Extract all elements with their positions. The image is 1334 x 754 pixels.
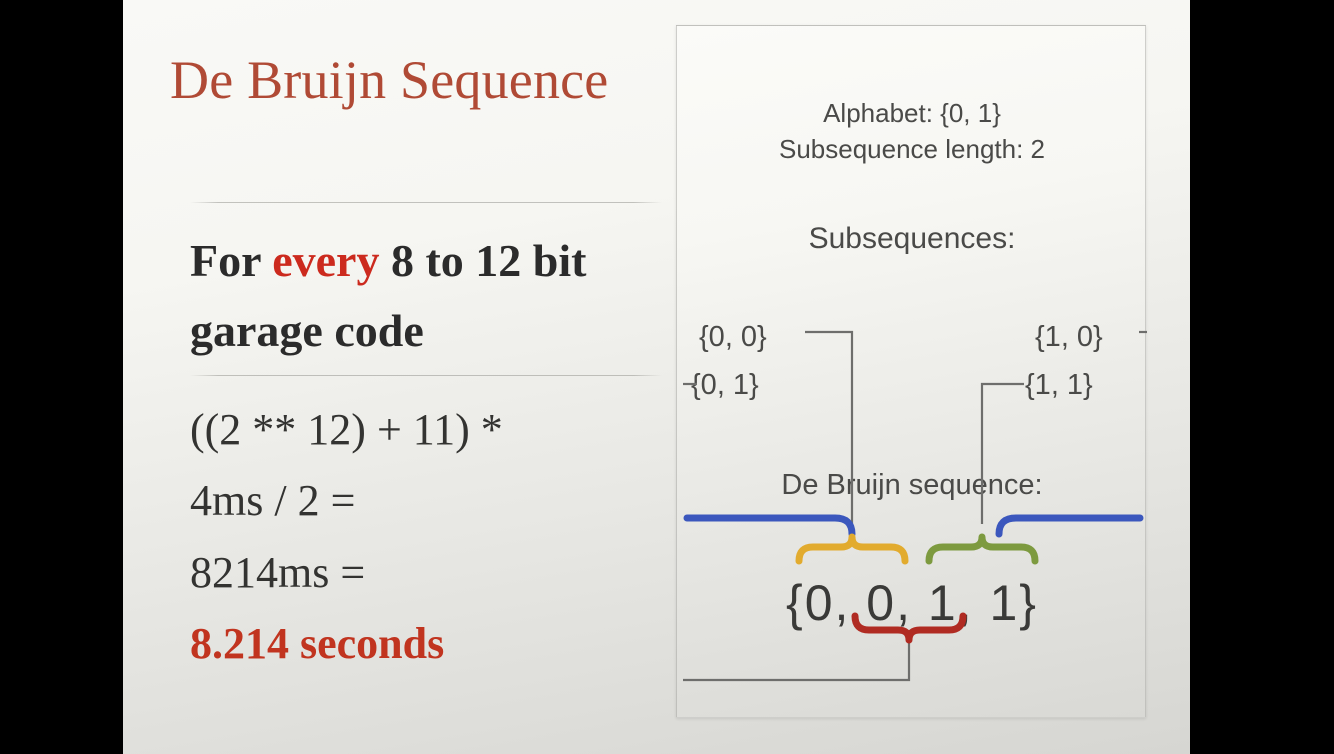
brace-green <box>929 537 1035 561</box>
brace-blue-right <box>999 518 1140 534</box>
headline-accent: every <box>272 235 379 286</box>
headline-text: For every 8 to 12 bit garage code <box>190 226 690 366</box>
letterbox-bar-left <box>0 0 123 754</box>
video-frame: De Bruijn Sequence For every 8 to 12 bit… <box>0 0 1334 754</box>
formula-result: 8.214 seconds <box>190 608 690 679</box>
leader-line-00 <box>805 332 852 524</box>
divider-top <box>190 202 662 203</box>
formula-block: ((2 ** 12) + 11) * 4ms / 2 = 8214ms = 8.… <box>190 394 690 679</box>
left-column: De Bruijn Sequence For every 8 to 12 bit… <box>168 0 693 754</box>
diagram-panel: Alphabet: {0, 1} Subsequence length: 2 S… <box>676 25 1146 718</box>
formula-line-3: 8214ms = <box>190 537 690 608</box>
letterbox-bar-right <box>1190 0 1334 754</box>
brace-diagram <box>677 26 1147 719</box>
brace-yellow <box>799 537 905 561</box>
divider-bottom <box>190 375 662 376</box>
leader-line-wrap-bottom <box>683 630 909 680</box>
brace-red <box>855 616 963 640</box>
headline-before: For <box>190 235 272 286</box>
presentation-slide: De Bruijn Sequence For every 8 to 12 bit… <box>123 0 1190 754</box>
page-title: De Bruijn Sequence <box>170 52 690 109</box>
formula-line-1: ((2 ** 12) + 11) * <box>190 394 690 465</box>
leader-line-11 <box>982 384 1024 524</box>
formula-line-2: 4ms / 2 = <box>190 465 690 536</box>
brace-blue-left <box>687 518 852 534</box>
